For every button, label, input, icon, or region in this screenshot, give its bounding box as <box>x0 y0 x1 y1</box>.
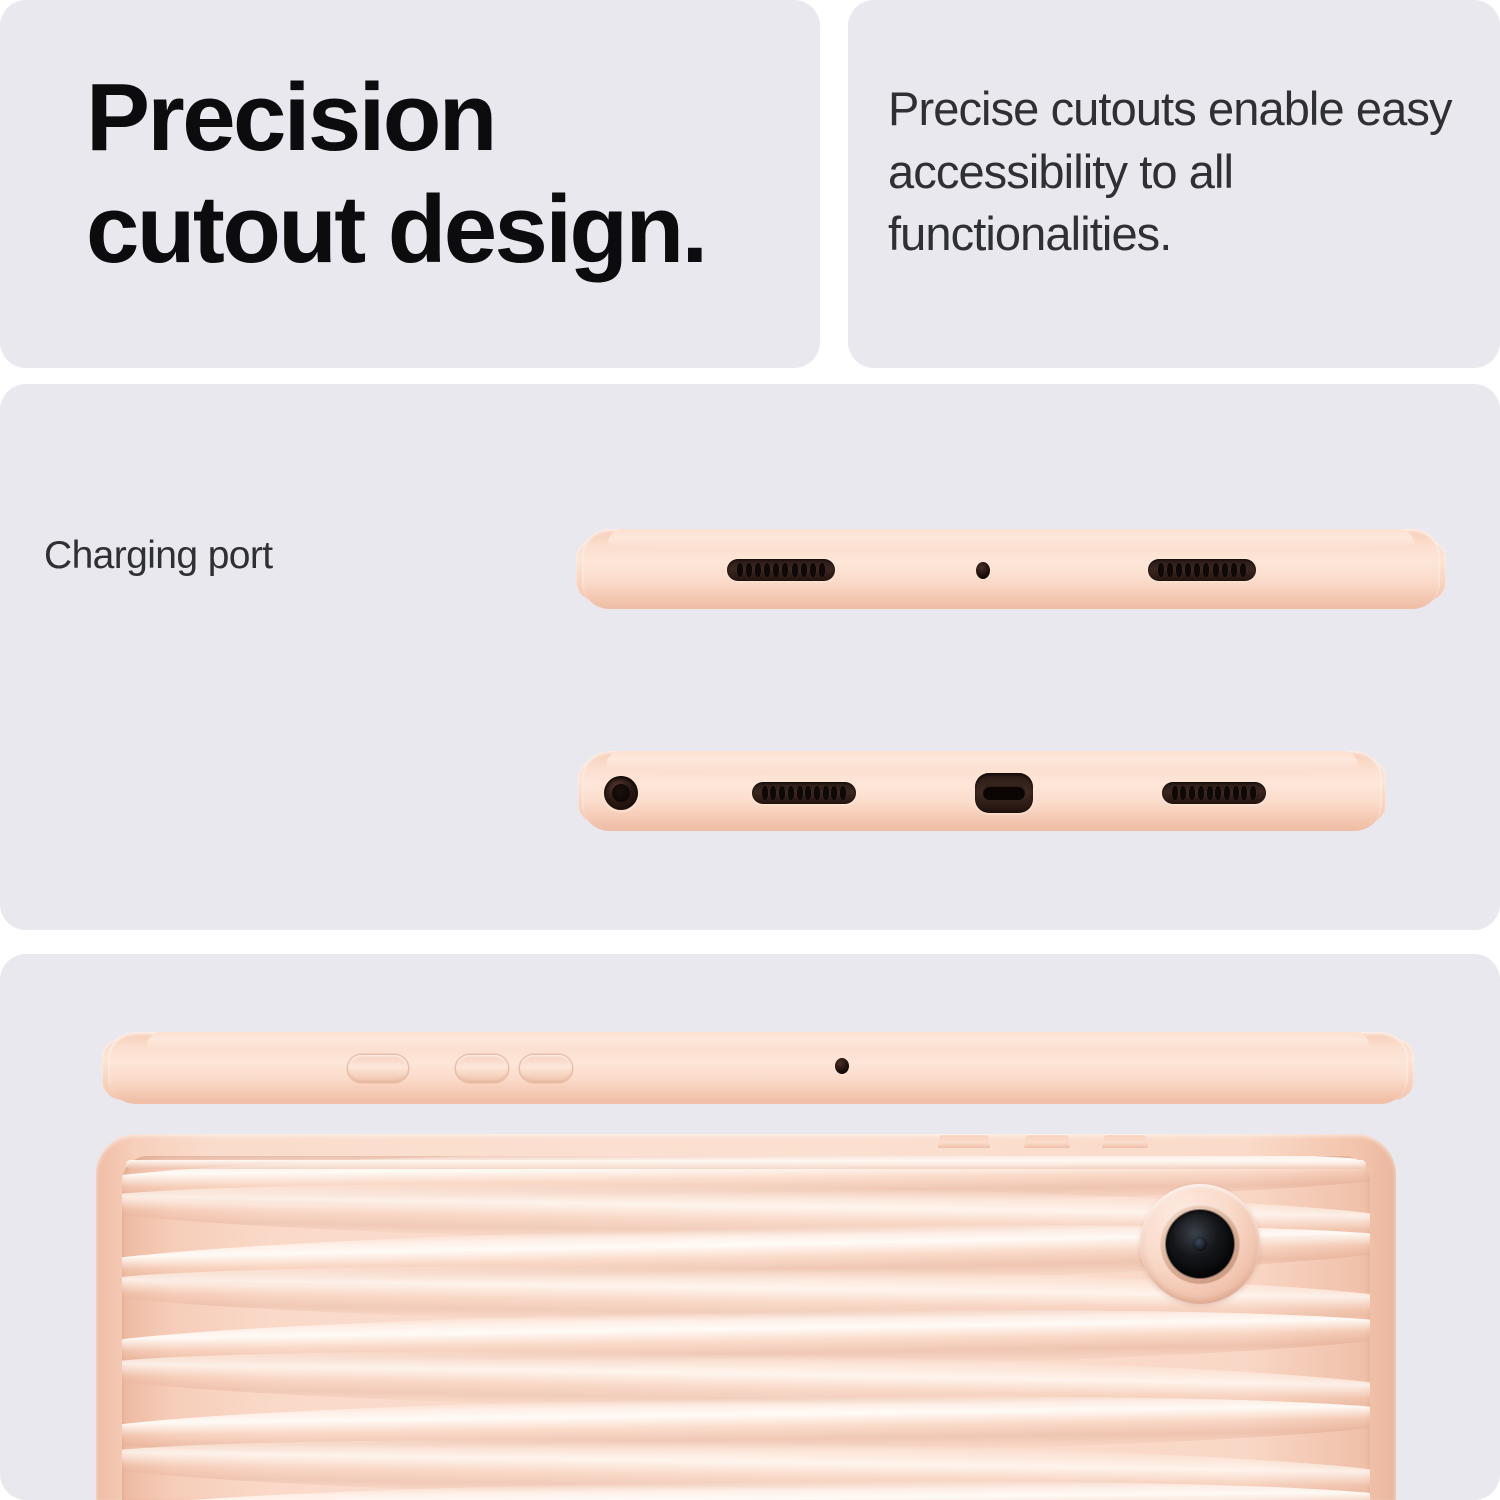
grille-hole <box>1240 563 1246 576</box>
headline-line-2: cutout design. <box>86 174 786 286</box>
grille-hole <box>788 786 794 799</box>
grille-hole <box>746 563 752 576</box>
volume-down-button[interactable] <box>520 1055 572 1082</box>
grille-hole <box>764 563 770 576</box>
speaker-grille-left <box>727 559 835 581</box>
headphone-jack-inner <box>612 784 630 802</box>
camera-ring <box>1160 1204 1239 1283</box>
charging-port-label: Charging port <box>44 534 273 578</box>
page-title: Precision cutout design. <box>86 62 786 287</box>
edge-gloss-rail <box>147 1032 1369 1051</box>
camera-module <box>1140 1184 1260 1304</box>
grille-hole <box>1176 563 1182 576</box>
microphone-pinhole <box>835 1058 849 1074</box>
grille-hole <box>814 786 820 799</box>
grille-hole <box>831 786 837 799</box>
button-nub-volume-up <box>1024 1134 1070 1148</box>
camera-aperture <box>1193 1237 1207 1251</box>
grille-hole <box>773 563 779 576</box>
bottom-edge-view <box>582 751 1382 831</box>
tablet-back-view <box>96 1134 1396 1500</box>
grille-hole <box>1213 563 1219 576</box>
button-nub-volume-down <box>1102 1134 1148 1148</box>
headline-line-1: Precision <box>86 62 786 174</box>
speaker-grille-right <box>1148 559 1256 581</box>
grille-hole <box>819 563 825 576</box>
speaker-grille-right <box>1162 782 1266 804</box>
camera-lens <box>1166 1210 1234 1278</box>
description-panel: Precise cutouts enable easy accessibilit… <box>848 0 1500 368</box>
grille-hole <box>779 786 785 799</box>
microphone-pinhole <box>976 562 990 579</box>
edge-gloss-rail <box>608 529 1415 550</box>
edge-body <box>582 529 1440 609</box>
volume-up-button[interactable] <box>456 1055 508 1082</box>
grille-hole <box>1203 563 1209 576</box>
usb-c-port <box>975 773 1033 813</box>
grille-hole <box>840 786 846 799</box>
button-nub-power <box>938 1134 990 1148</box>
edge-body <box>108 1032 1408 1104</box>
grille-hole <box>1158 563 1164 576</box>
usb-c-slot <box>983 786 1025 800</box>
grille-hole <box>1185 563 1191 576</box>
headphone-jack <box>604 776 638 810</box>
grille-hole <box>1250 786 1256 799</box>
grille-hole <box>823 786 829 799</box>
grille-hole <box>801 563 807 576</box>
grille-hole <box>737 563 743 576</box>
power-button[interactable] <box>348 1055 408 1082</box>
grille-hole <box>1215 786 1221 799</box>
headline-panel: Precision cutout design. <box>0 0 820 368</box>
grille-hole <box>770 786 776 799</box>
product-feature-sheet: Precision cutout design. Precise cutouts… <box>0 0 1500 1500</box>
back-top-rim <box>126 1160 1366 1169</box>
top-edge-view <box>582 529 1440 609</box>
grille-hole <box>1233 786 1239 799</box>
grille-hole <box>762 786 768 799</box>
profile-panel <box>0 954 1500 1500</box>
grille-hole <box>1207 786 1213 799</box>
grille-hole <box>755 563 761 576</box>
grille-hole <box>1189 786 1195 799</box>
grille-hole <box>1198 786 1204 799</box>
ports-panel: Charging port <box>0 384 1500 930</box>
edge-gloss-rail <box>606 751 1358 772</box>
speaker-grille-left <box>752 782 856 804</box>
grille-hole <box>1172 786 1178 799</box>
grille-hole <box>1180 786 1186 799</box>
grille-hole <box>782 563 788 576</box>
grille-hole <box>797 786 803 799</box>
description-text: Precise cutouts enable easy accessibilit… <box>888 78 1468 266</box>
grille-hole <box>1222 563 1228 576</box>
grille-hole <box>1167 563 1173 576</box>
side-edge-view <box>108 1032 1408 1104</box>
grille-hole <box>805 786 811 799</box>
grille-hole <box>792 563 798 576</box>
grille-hole <box>1241 786 1247 799</box>
grille-hole <box>1231 563 1237 576</box>
grille-hole <box>810 563 816 576</box>
grille-hole <box>1194 563 1200 576</box>
grille-hole <box>1224 786 1230 799</box>
